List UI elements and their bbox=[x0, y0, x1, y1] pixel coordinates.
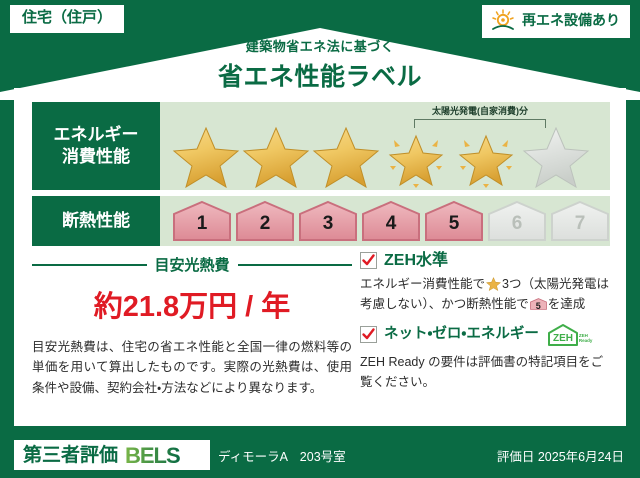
zeh-standard-block: ZEH水準 エネルギー消費性能で3つ（太陽光発電は考慮しない）、かつ断熱性能で5… bbox=[360, 252, 610, 315]
insulation-level-off: 7 bbox=[550, 200, 610, 242]
energy-label-line2: 消費性能 bbox=[62, 146, 130, 168]
insulation-level-number: 3 bbox=[298, 213, 358, 235]
insulation-performance-label: 断熱性能 bbox=[32, 196, 160, 246]
insulation-performance-row: 断熱性能 1 bbox=[32, 196, 610, 246]
cost-rule-left bbox=[32, 264, 147, 266]
sun-icon bbox=[490, 9, 516, 33]
insulation-level-number: 5 bbox=[424, 213, 484, 235]
bels-logo-icon: BELS bbox=[125, 444, 201, 466]
net-zero-title: ネット・ゼロ・エネルギー bbox=[384, 327, 539, 342]
insulation-level-number: 2 bbox=[235, 213, 295, 235]
net-zero-block: ネット・ゼロ・エネルギー ZEH ZEH Ready ZEH Ready の要件… bbox=[360, 323, 610, 393]
cost-heading-row: 目安光熱費 bbox=[32, 254, 352, 275]
energy-label-root: 住宅（住戸） 再エネ設備あり 建築物省エネ法に基づく 省エネ性能ラベル エネルギ… bbox=[0, 0, 640, 478]
bels-badge: 第三者評価 BELS bbox=[14, 440, 210, 470]
star-filled-solar bbox=[382, 122, 450, 188]
insulation-level-number: 4 bbox=[361, 213, 421, 235]
zeh-standard-body: エネルギー消費性能で3つ（太陽光発電は考慮しない）、かつ断熱性能で5を達成 bbox=[360, 274, 610, 315]
star-inline-icon bbox=[486, 276, 501, 291]
solar-bracket-label: 太陽光発電(自家消費)分 bbox=[412, 104, 548, 117]
insulation-rating-area: 1 2 3 bbox=[160, 196, 610, 246]
energy-performance-label: エネルギー 消費性能 bbox=[32, 102, 160, 190]
insulation-level-on: 1 bbox=[172, 200, 232, 242]
evaluation-date: 評価日 2025年6月24日 bbox=[497, 446, 626, 465]
badge-housing-label: 住宅（住戸） bbox=[22, 9, 112, 26]
net-zero-checkbox[interactable] bbox=[360, 326, 377, 343]
cost-rule-right bbox=[238, 264, 353, 266]
label-card: エネルギー 消費性能 太陽光発電(自家消費)分 bbox=[14, 88, 626, 426]
page-title: 省エネ性能ラベル bbox=[0, 57, 640, 93]
insulation-level-number: 6 bbox=[487, 213, 547, 235]
zeh-standard-title: ZEH水準 bbox=[384, 253, 448, 269]
energy-performance-row: エネルギー 消費性能 太陽光発電(自家消費)分 bbox=[32, 102, 610, 190]
insulation-level-scale: 1 2 3 bbox=[172, 200, 610, 242]
insulation-level-on: 4 bbox=[361, 200, 421, 242]
star-filled bbox=[312, 122, 380, 188]
footer: 第三者評価 BELS ディモーラA 203号室 評価日 2025年6月24日 bbox=[14, 440, 626, 470]
insulation-badge-inline-icon: 5 bbox=[530, 297, 547, 311]
zeh-body-part1: エネルギー消費性能で bbox=[360, 277, 485, 291]
star-filled-solar bbox=[452, 122, 520, 188]
svg-text:ZEH: ZEH bbox=[553, 333, 573, 344]
zeh-standard-checkbox[interactable] bbox=[360, 252, 377, 269]
star-rating bbox=[172, 122, 590, 188]
energy-label-line1: エネルギー bbox=[54, 124, 139, 146]
insulation-badge-inline-number: 5 bbox=[530, 299, 547, 314]
svg-text:BELS: BELS bbox=[125, 444, 180, 466]
zeh-standard-head: ZEH水準 bbox=[360, 252, 610, 269]
zeh-panel: ZEH水準 エネルギー消費性能で3つ（太陽光発電は考慮しない）、かつ断熱性能で5… bbox=[360, 252, 610, 396]
star-empty bbox=[522, 122, 590, 188]
star-filled bbox=[242, 122, 310, 188]
check-icon bbox=[361, 253, 376, 268]
insulation-level-off: 6 bbox=[487, 200, 547, 242]
insulation-level-on: 5 bbox=[424, 200, 484, 242]
net-zero-head: ネット・ゼロ・エネルギー ZEH ZEH Ready bbox=[360, 323, 610, 347]
insulation-level-number: 1 bbox=[172, 213, 232, 235]
badge-renewable-label: 再エネ設備あり bbox=[522, 13, 620, 28]
cost-note: 目安光熱費は、住宅の省エネ性能と全国一律の燃料等の単価を用いて算出したものです。… bbox=[32, 337, 352, 398]
cost-heading: 目安光熱費 bbox=[155, 254, 230, 275]
energy-rating-area: 太陽光発電(自家消費)分 bbox=[160, 102, 610, 190]
insulation-level-on: 3 bbox=[298, 200, 358, 242]
zeh-body-part2: を達成 bbox=[548, 297, 586, 311]
zeh-ready-sublabel: ZEH Ready bbox=[579, 333, 593, 343]
star-filled bbox=[172, 122, 240, 188]
lower-section: 目安光熱費 約21.8万円 / 年 目安光熱費は、住宅の省エネ性能と全国一律の燃… bbox=[14, 252, 626, 426]
check-icon bbox=[361, 327, 376, 342]
header-titles: 建築物省エネ法に基づく 省エネ性能ラベル bbox=[0, 36, 640, 93]
net-zero-body: ZEH Ready の要件は評価書の特記項目をご覧ください。 bbox=[360, 352, 610, 393]
zeh-ready-logo-icon: ZEH ZEH Ready bbox=[546, 323, 590, 347]
insulation-label-text: 断熱性能 bbox=[62, 210, 130, 232]
title-subtitle: 建築物省エネ法に基づく bbox=[0, 36, 640, 55]
insulation-level-number: 7 bbox=[550, 213, 610, 235]
cost-panel: 目安光熱費 約21.8万円 / 年 目安光熱費は、住宅の省エネ性能と全国一律の燃… bbox=[32, 252, 352, 398]
badge-renewable-equipment: 再エネ設備あり bbox=[482, 5, 630, 38]
third-party-eval-label: 第三者評価 bbox=[23, 446, 118, 465]
badge-housing-type: 住宅（住戸） bbox=[10, 5, 124, 33]
insulation-level-on: 2 bbox=[235, 200, 295, 242]
cost-value: 約21.8万円 / 年 bbox=[32, 283, 352, 325]
property-name: ディモーラA 203号室 bbox=[218, 446, 346, 465]
